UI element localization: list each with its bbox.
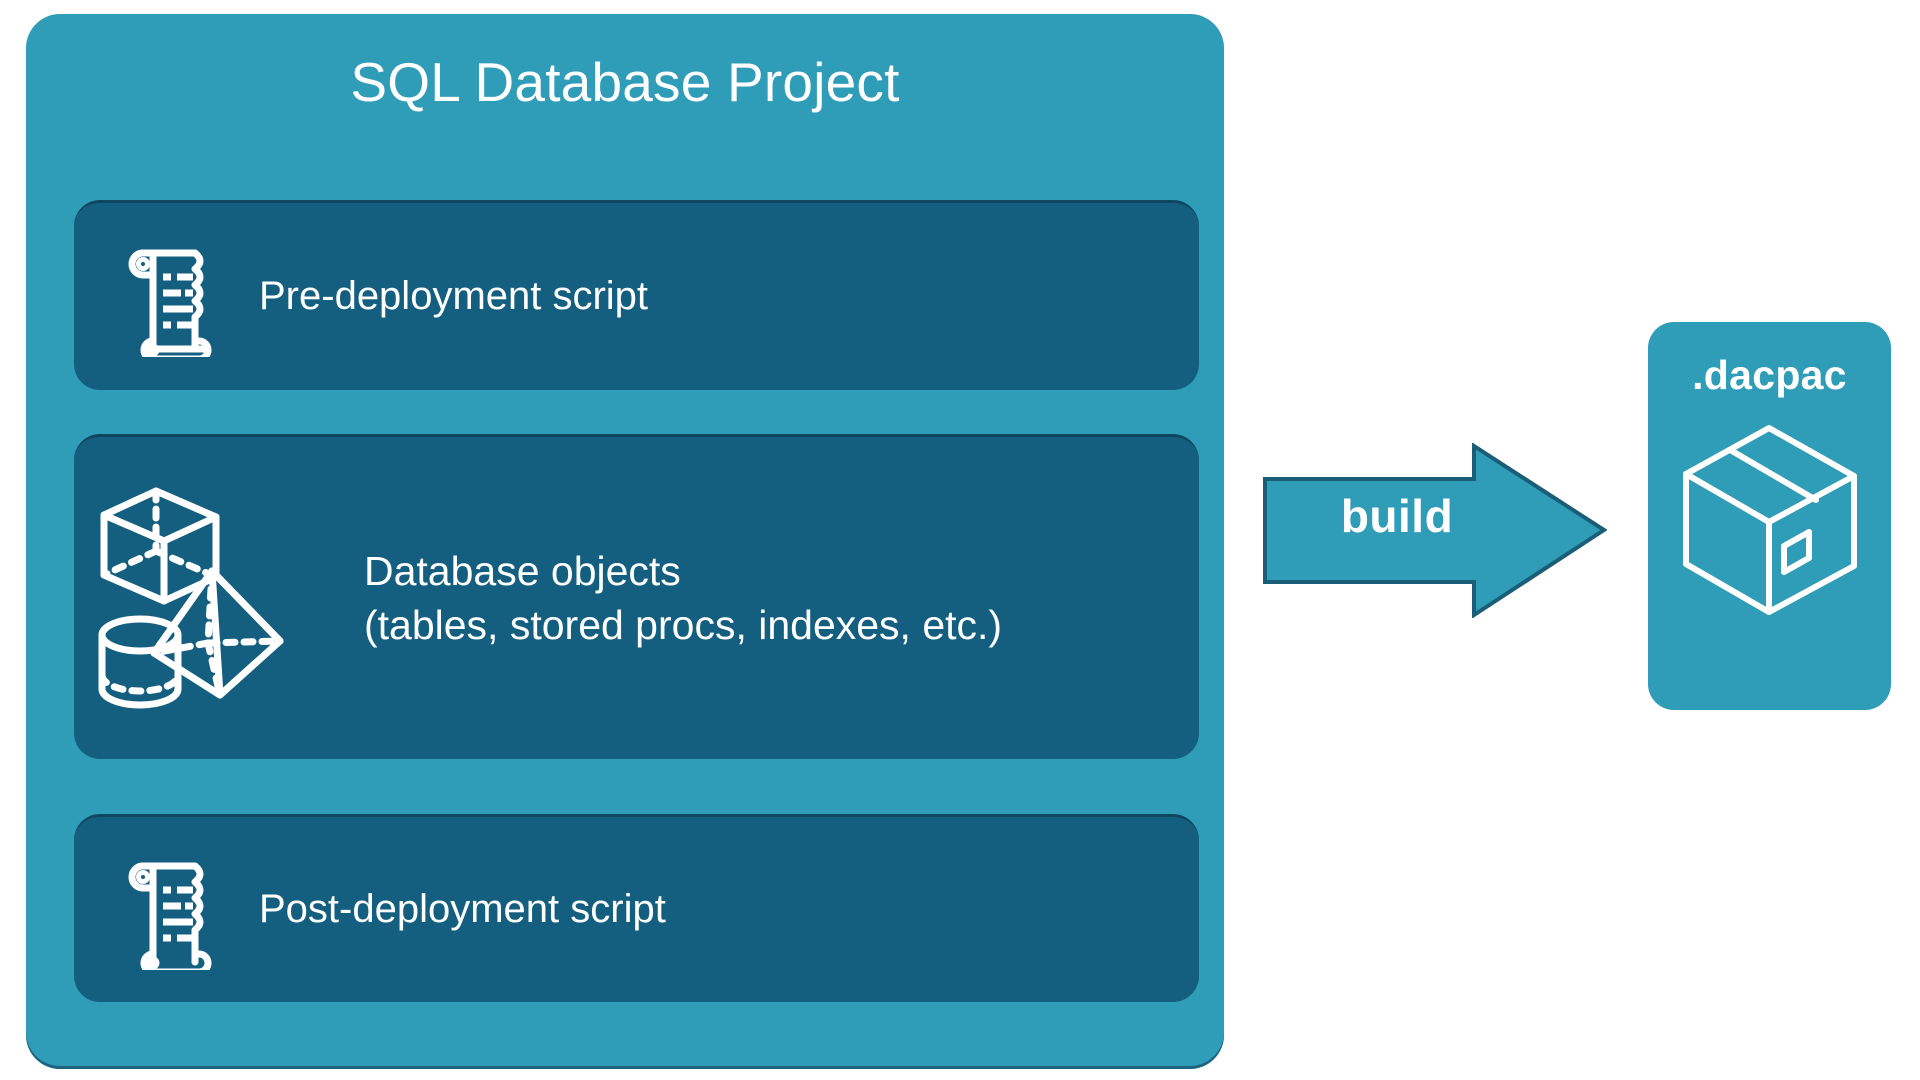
card-database-objects-label: Database objects (tables, stored procs, … xyxy=(364,544,1002,652)
scroll-icon xyxy=(111,237,223,357)
scroll-icon-wrapper-2 xyxy=(74,850,259,970)
dacpac-label: .dacpac xyxy=(1648,352,1891,399)
dacpac-output-card[interactable]: .dacpac xyxy=(1648,322,1891,710)
scroll-icon xyxy=(111,850,223,970)
card-post-deployment-script[interactable]: Post-deployment script xyxy=(74,814,1199,1002)
database-objects-icons xyxy=(92,473,347,723)
page-title: SQL Database Project xyxy=(26,52,1224,113)
build-label: build xyxy=(1312,489,1482,543)
card-pre-deployment-label: Pre-deployment script xyxy=(259,270,648,323)
database-objects-icon-group xyxy=(74,473,364,723)
sql-database-project-container: SQL Database Project xyxy=(26,14,1224,1069)
card-post-deployment-label: Post-deployment script xyxy=(259,883,666,936)
card-database-objects[interactable]: Database objects (tables, stored procs, … xyxy=(74,434,1199,759)
card-pre-deployment-script[interactable]: Pre-deployment script xyxy=(74,200,1199,390)
pyramid-icon xyxy=(154,571,280,695)
scroll-icon-wrapper xyxy=(74,237,259,357)
package-box-icon xyxy=(1674,418,1864,618)
